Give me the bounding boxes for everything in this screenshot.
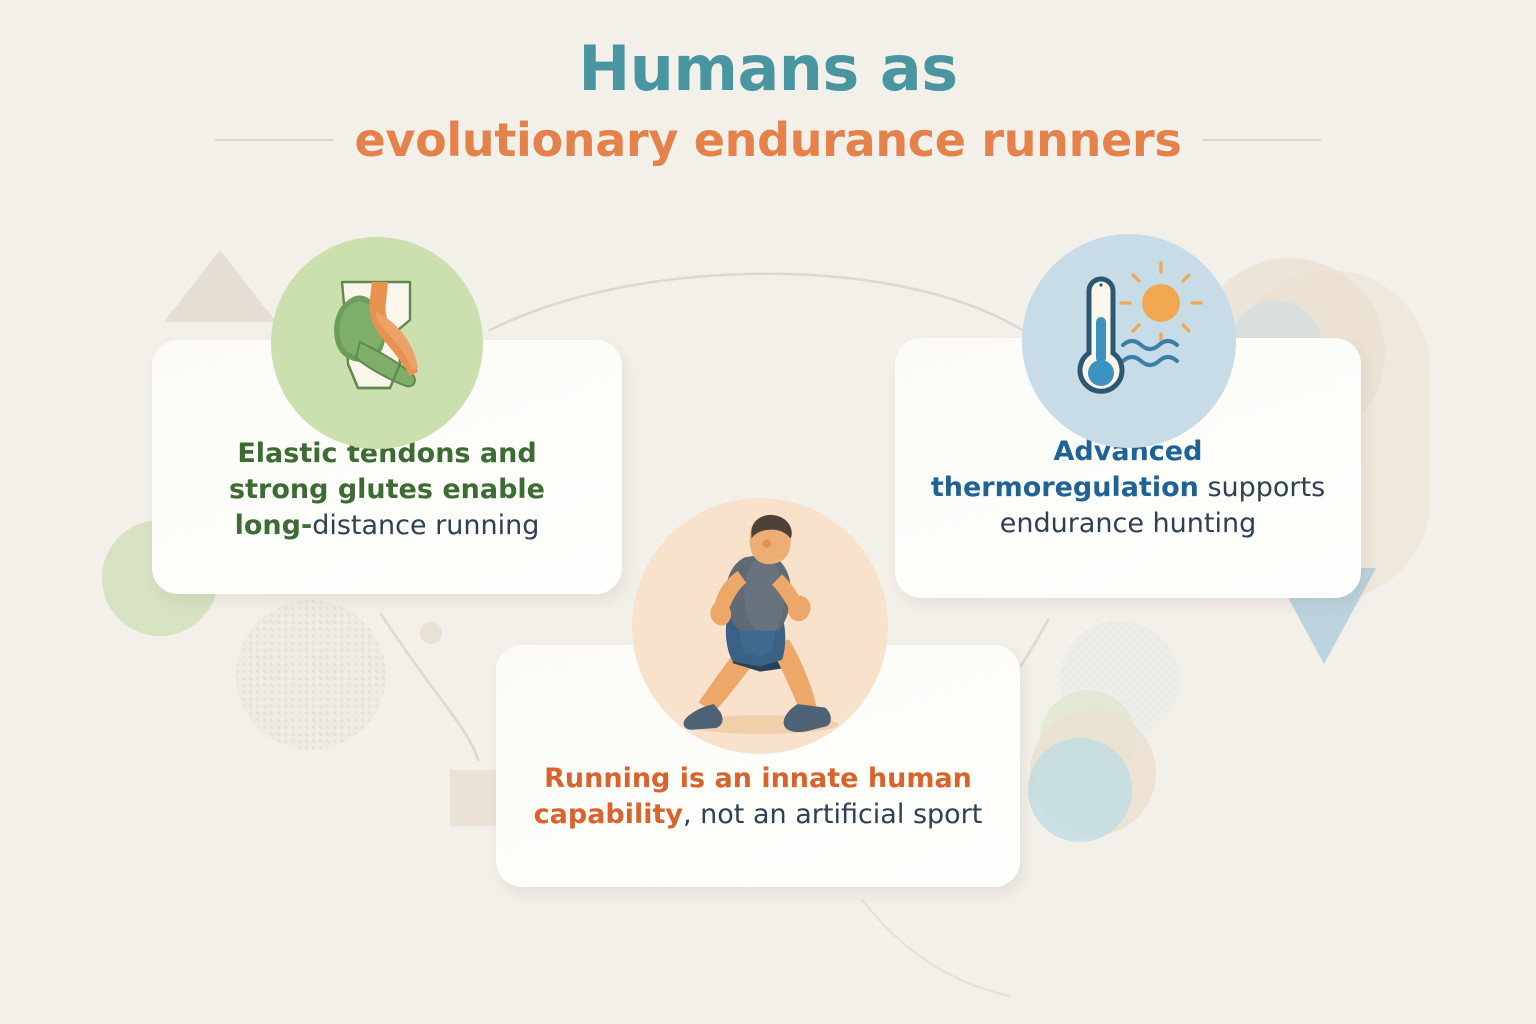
title-rule-right [1203, 139, 1321, 141]
runner-icon [632, 498, 888, 754]
page-title: Humans as evolutionary endurance runners [0, 36, 1536, 167]
card-center-tail: , not an artificial sport [683, 799, 982, 830]
glutes-anatomy-icon [271, 237, 483, 449]
infographic-canvas: Humans as evolutionary endurance runners… [0, 0, 1536, 1024]
title-line-2-row: evolutionary endurance runners [0, 113, 1536, 167]
title-line-1: Humans as [0, 36, 1536, 101]
card-right-text: Advanced thermoregulation supports endur… [895, 434, 1361, 543]
title-line-2: evolutionary endurance runners [355, 113, 1182, 167]
title-rule-left [215, 139, 333, 141]
thermometer-sun-icon [1022, 234, 1236, 448]
heat-wave-icon [1123, 341, 1177, 365]
card-right-lead: Advanced thermoregulation [931, 436, 1203, 503]
thermometer-sun-glyph [1049, 261, 1209, 421]
card-left-tail: distance running [312, 510, 539, 541]
card-left-text: Elastic tendons and strong glutes enable… [152, 436, 622, 545]
runner-glyph [632, 479, 888, 779]
glutes-anatomy-glyph [302, 268, 452, 418]
sun-icon [1121, 263, 1201, 343]
thermometer-glyph [1080, 279, 1122, 391]
